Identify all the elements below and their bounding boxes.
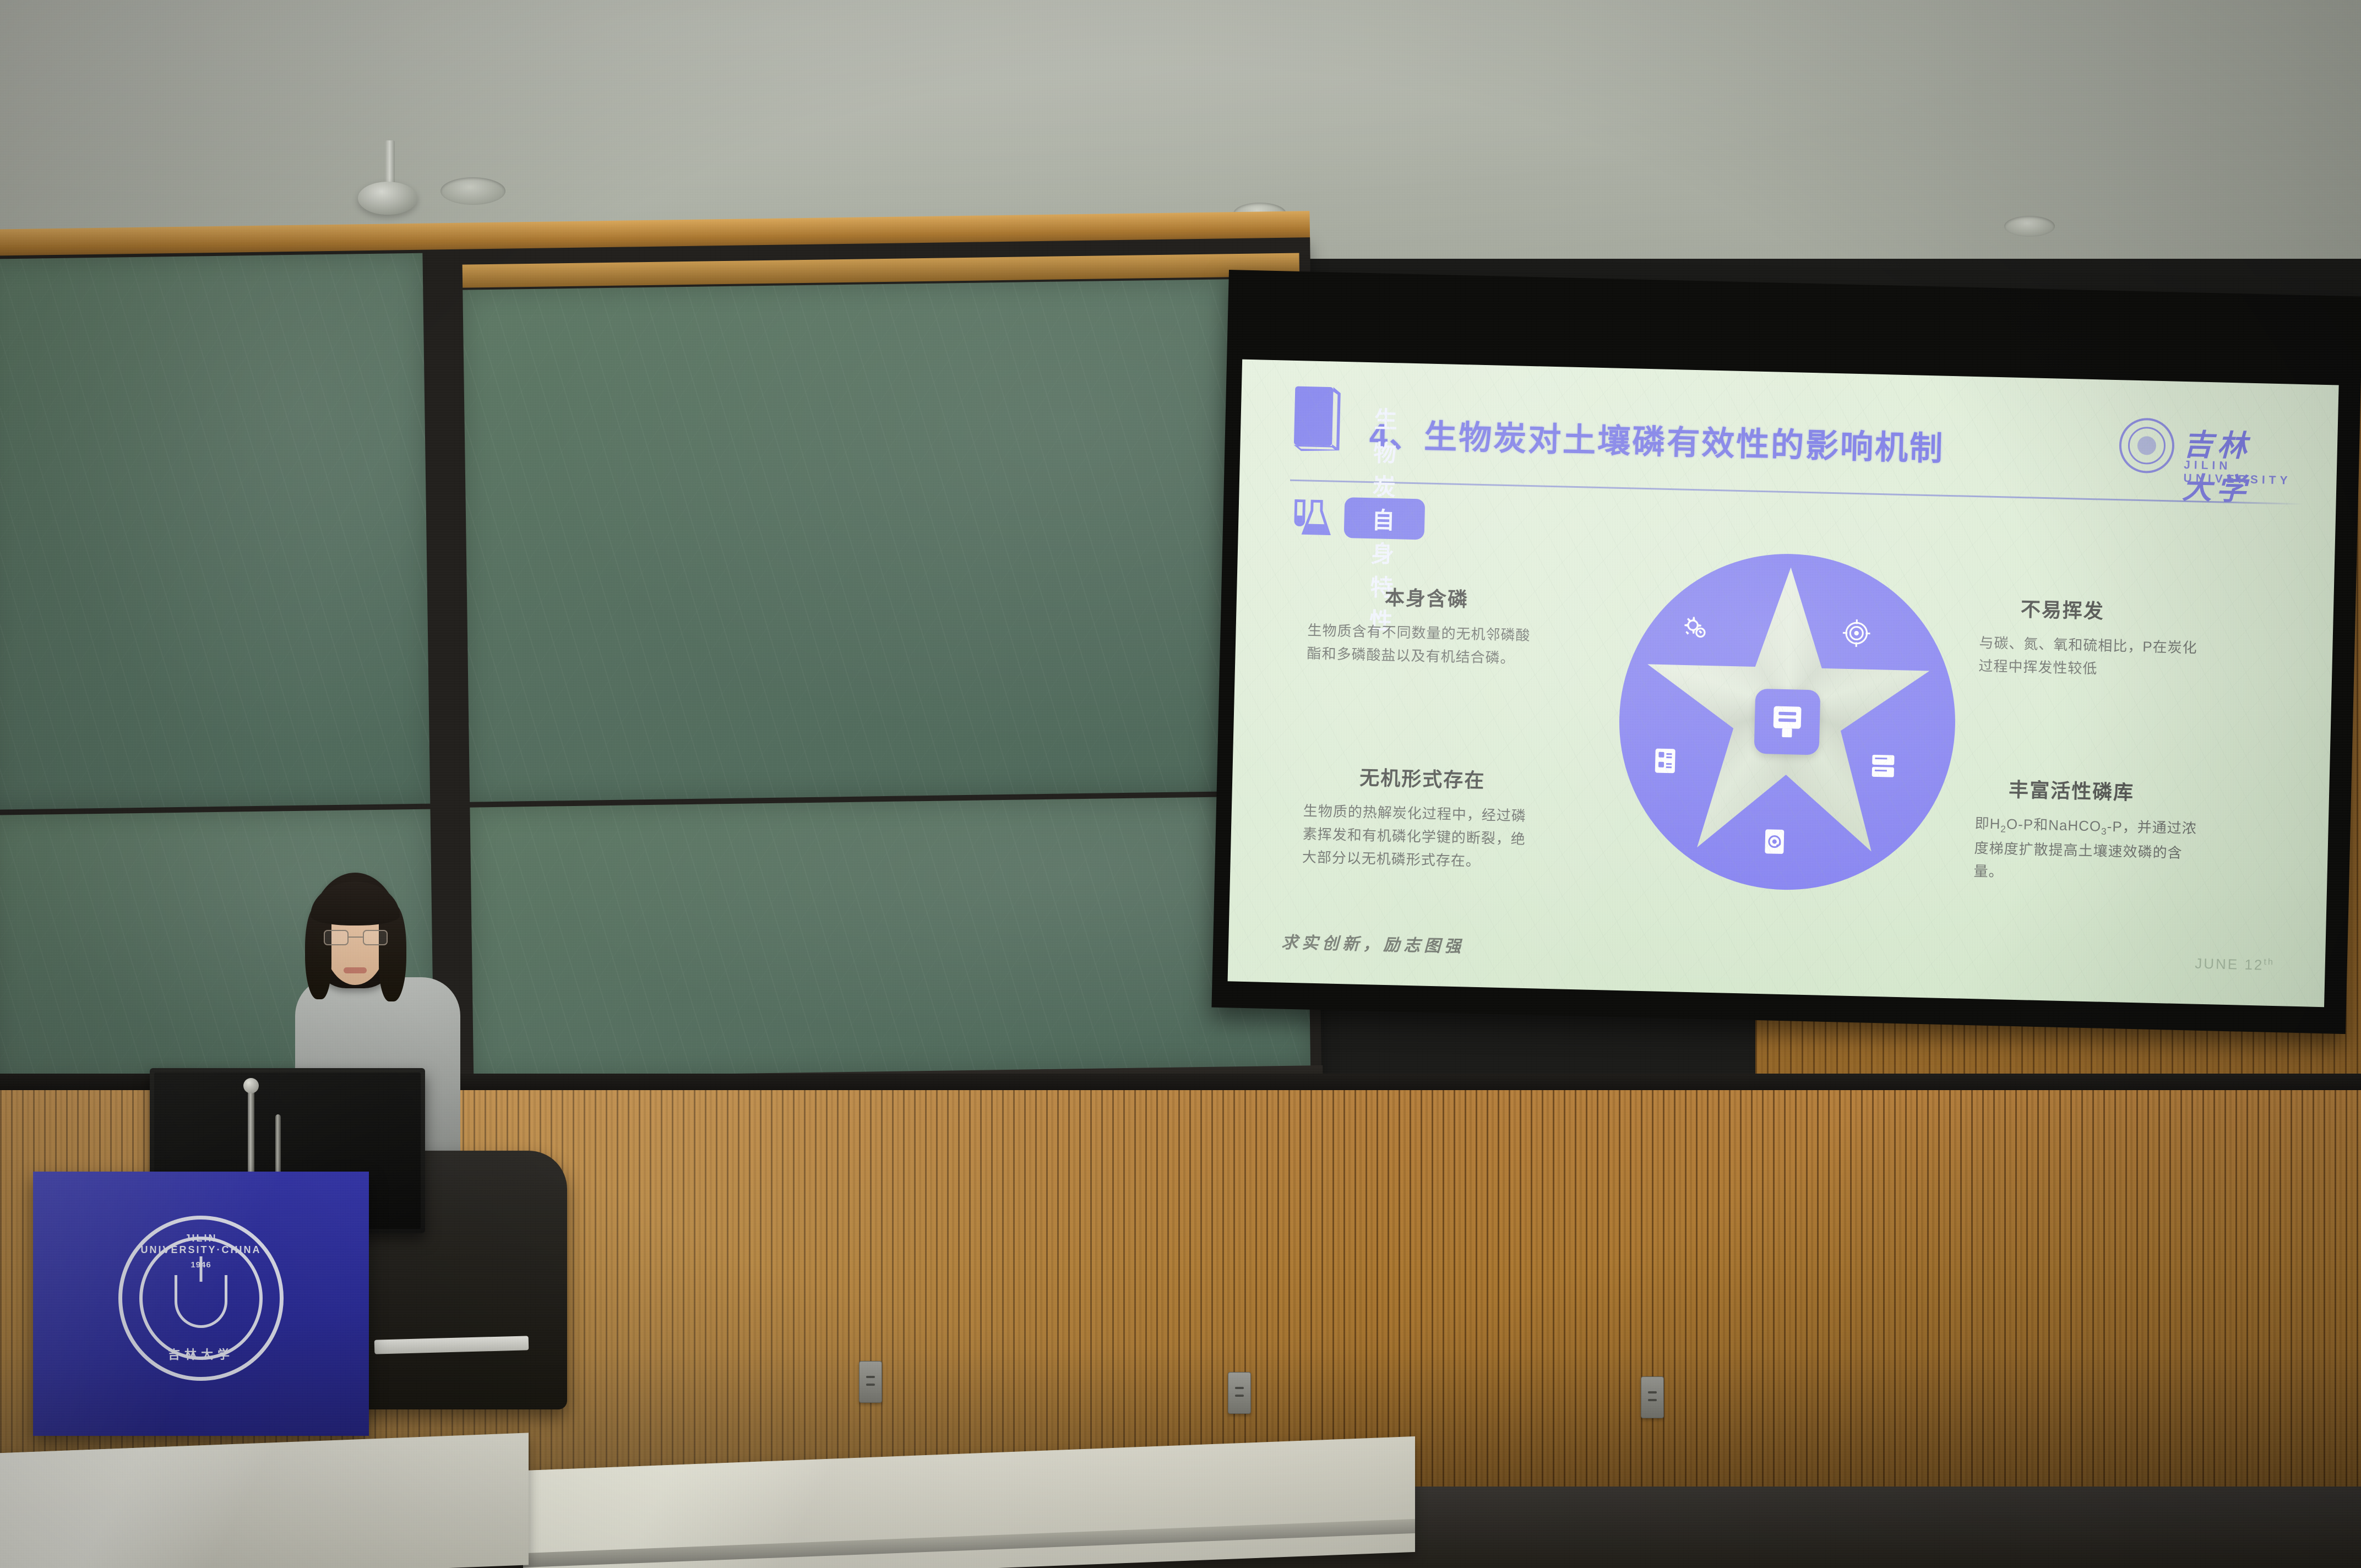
block-heading: 不易挥发: [1979, 592, 2211, 627]
seal-emblem: [175, 1275, 227, 1328]
power-outlet: [859, 1361, 882, 1403]
slide-date-label: JUNE 12: [2195, 955, 2264, 973]
recessed-light-icon: [440, 177, 505, 205]
slide-subtitle-row: 生物炭自身特性: [1291, 496, 1292, 539]
block-body: 即H2O-P和NaHCO3-P，并通过浓度梯度扩散提高土壤速效磷的含量。: [1973, 812, 2212, 888]
university-logo: 吉林大学 JILIN UNIVERSITY: [2118, 414, 2285, 483]
spotlight-stem: [385, 140, 395, 186]
id-card-icon: [1649, 744, 1682, 777]
chalkboard-panel: [470, 796, 1310, 1078]
block-heading: 丰富活性磷库: [1976, 773, 2213, 807]
document-icon: [1754, 689, 1821, 755]
power-outlet: [1228, 1372, 1251, 1414]
target-icon: [1840, 617, 1873, 649]
text-block-bottom-right: 丰富活性磷库 即H2O-P和NaHCO3-P，并通过浓度梯度扩散提高土壤速效磷的…: [1973, 773, 2213, 888]
slide-date: JUNE 12th: [2195, 955, 2275, 974]
block-body: 生物质的热解炭化过程中，经过磷素挥发和有机磷化学键的断裂，绝大部分以无机磷形式存…: [1302, 799, 1540, 874]
text-block-top-right: 不易挥发 与碳、氮、氧和硫相比，P在炭化过程中挥发性较低: [1978, 592, 2212, 683]
glasses-icon: [324, 930, 388, 946]
lecture-hall-scene: 4、生物炭对土壤磷有效性的影响机制 吉林大学 JILIN UNIVERSITY …: [0, 0, 2361, 1568]
slide-header: 4、生物炭对土壤磷有效性的影响机制 吉林大学 JILIN UNIVERSITY: [1290, 382, 2299, 521]
at-sign-icon: [1758, 825, 1791, 858]
flask-icon: [1291, 499, 1333, 537]
chalkboard-frame: [0, 237, 1322, 1115]
chalkboard-panel: [0, 253, 430, 810]
block-body: 生物质含有不同数量的无机邻磷酸酯和多磷酸盐以及有机结合磷。: [1307, 619, 1544, 671]
text-block-top-left: 本身含磷 生物质含有不同数量的无机邻磷酸酯和多磷酸盐以及有机结合磷。: [1307, 580, 1546, 671]
university-name-en: JILIN UNIVERSITY: [2183, 459, 2292, 488]
presenter-bangs: [311, 881, 400, 925]
slide-date-suffix: th: [2264, 957, 2275, 967]
university-seal-icon: [2119, 417, 2175, 473]
presenter-mouth: [344, 967, 367, 973]
title-divider: [1290, 480, 2303, 505]
block-heading: 无机形式存在: [1304, 760, 1541, 794]
chalkboard-panel: [463, 278, 1307, 802]
lectern-front-panel: JILIN UNIVERSITY·CHINA 1946 吉林大学: [33, 1172, 369, 1436]
projection-screen: 4、生物炭对土壤磷有效性的影响机制 吉林大学 JILIN UNIVERSITY …: [1211, 270, 2361, 1034]
foreground-table: [0, 1433, 529, 1568]
seal-text-bottom: 吉林大学: [122, 1345, 280, 1363]
block-body: 与碳、氮、氧和硫相比，P在炭化过程中挥发性较低: [1978, 631, 2211, 683]
recessed-light-icon: [2004, 216, 2055, 237]
block-heading: 本身含磷: [1308, 580, 1546, 614]
seal-year: 1946: [191, 1260, 211, 1270]
slide-title: 4、生物炭对土壤磷有效性的影响机制: [1369, 409, 1945, 470]
chalkboard: [0, 211, 1322, 1133]
seal-text-top: JILIN UNIVERSITY·CHINA: [122, 1233, 280, 1256]
monitor-icon: [1867, 750, 1899, 782]
spotlight-icon: [358, 182, 417, 215]
book-icon: [1291, 385, 1345, 456]
gear-cog-icon: [1679, 612, 1712, 644]
slide-subtitle: 生物炭自身特性: [1344, 497, 1426, 540]
power-outlet: [1641, 1376, 1664, 1418]
text-block-bottom-left: 无机形式存在 生物质的热解炭化过程中，经过磷素挥发和有机磷化学键的断裂，绝大部分…: [1302, 760, 1541, 874]
presentation-slide: 4、生物炭对土壤磷有效性的影响机制 吉林大学 JILIN UNIVERSITY …: [1228, 360, 2339, 1008]
star-diagram: [1615, 550, 1959, 894]
slide-motto: 求实创新，励志图强: [1281, 929, 1465, 957]
university-seal-icon: JILIN UNIVERSITY·CHINA 1946 吉林大学: [118, 1216, 284, 1381]
